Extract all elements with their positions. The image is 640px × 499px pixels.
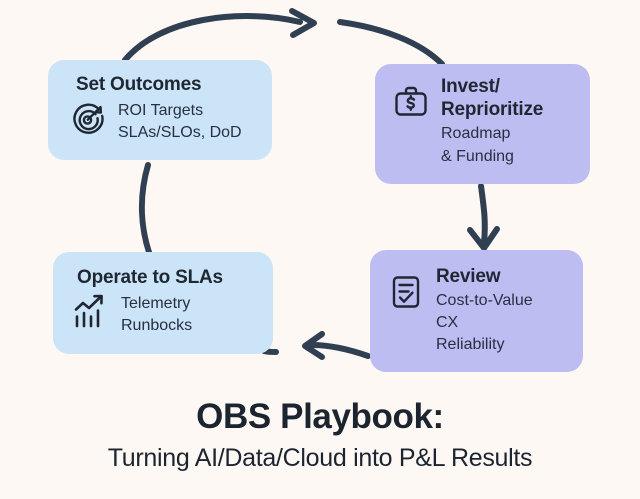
node-invest-body: Invest/ Reprioritize: [391, 76, 576, 122]
node-set-outcomes[interactable]: Set Outcomes ROI Targets SLAs/SLOs, DoD: [48, 60, 272, 160]
node-set-outcomes-body: ROI Targets SLAs/SLOs, DoD: [68, 99, 258, 144]
node-operate-lines: Telemetry Runbocks: [121, 292, 192, 337]
node-operate-body: Telemetry Runbocks: [71, 292, 259, 337]
arrow-top: [125, 11, 442, 64]
node-operate-title: Operate to SLAs: [77, 267, 259, 289]
node-invest-lines: Roadmap & Funding: [441, 122, 576, 167]
clipboard-check-icon: [386, 272, 426, 312]
node-operate[interactable]: Operate to SLAs Telemetry Runbocks: [53, 252, 273, 354]
node-invest[interactable]: Invest/ Reprioritize Roadmap & Funding: [375, 64, 590, 184]
briefcase-dollar-icon: [391, 82, 431, 122]
growth-chart-icon: [71, 292, 111, 332]
node-review-text: Review Cost-to-Value CX Reliability: [436, 266, 533, 356]
node-set-outcomes-lines: ROI Targets SLAs/SLOs, DoD: [118, 99, 242, 144]
node-invest-text: Invest/ Reprioritize: [441, 76, 543, 121]
node-review-title: Review: [436, 266, 533, 288]
footer: OBS Playbook: Turning AI/Data/Cloud into…: [0, 398, 640, 474]
page-subtitle: Turning AI/Data/Cloud into P&L Results: [0, 443, 640, 474]
arrow-bottom: [264, 334, 368, 357]
arrow-left: [142, 165, 151, 258]
node-review-lines: Cost-to-Value CX Reliability: [436, 289, 533, 356]
page-title: OBS Playbook:: [0, 398, 640, 437]
node-set-outcomes-title: Set Outcomes: [76, 74, 258, 96]
node-invest-title: Invest/ Reprioritize: [441, 76, 543, 121]
arrow-right: [470, 186, 497, 248]
target-icon: [68, 99, 108, 139]
node-review-body: Review Cost-to-Value CX Reliability: [386, 266, 569, 356]
node-review[interactable]: Review Cost-to-Value CX Reliability: [370, 250, 583, 372]
diagram-canvas: Set Outcomes ROI Targets SLAs/SLOs, DoD: [0, 0, 640, 499]
